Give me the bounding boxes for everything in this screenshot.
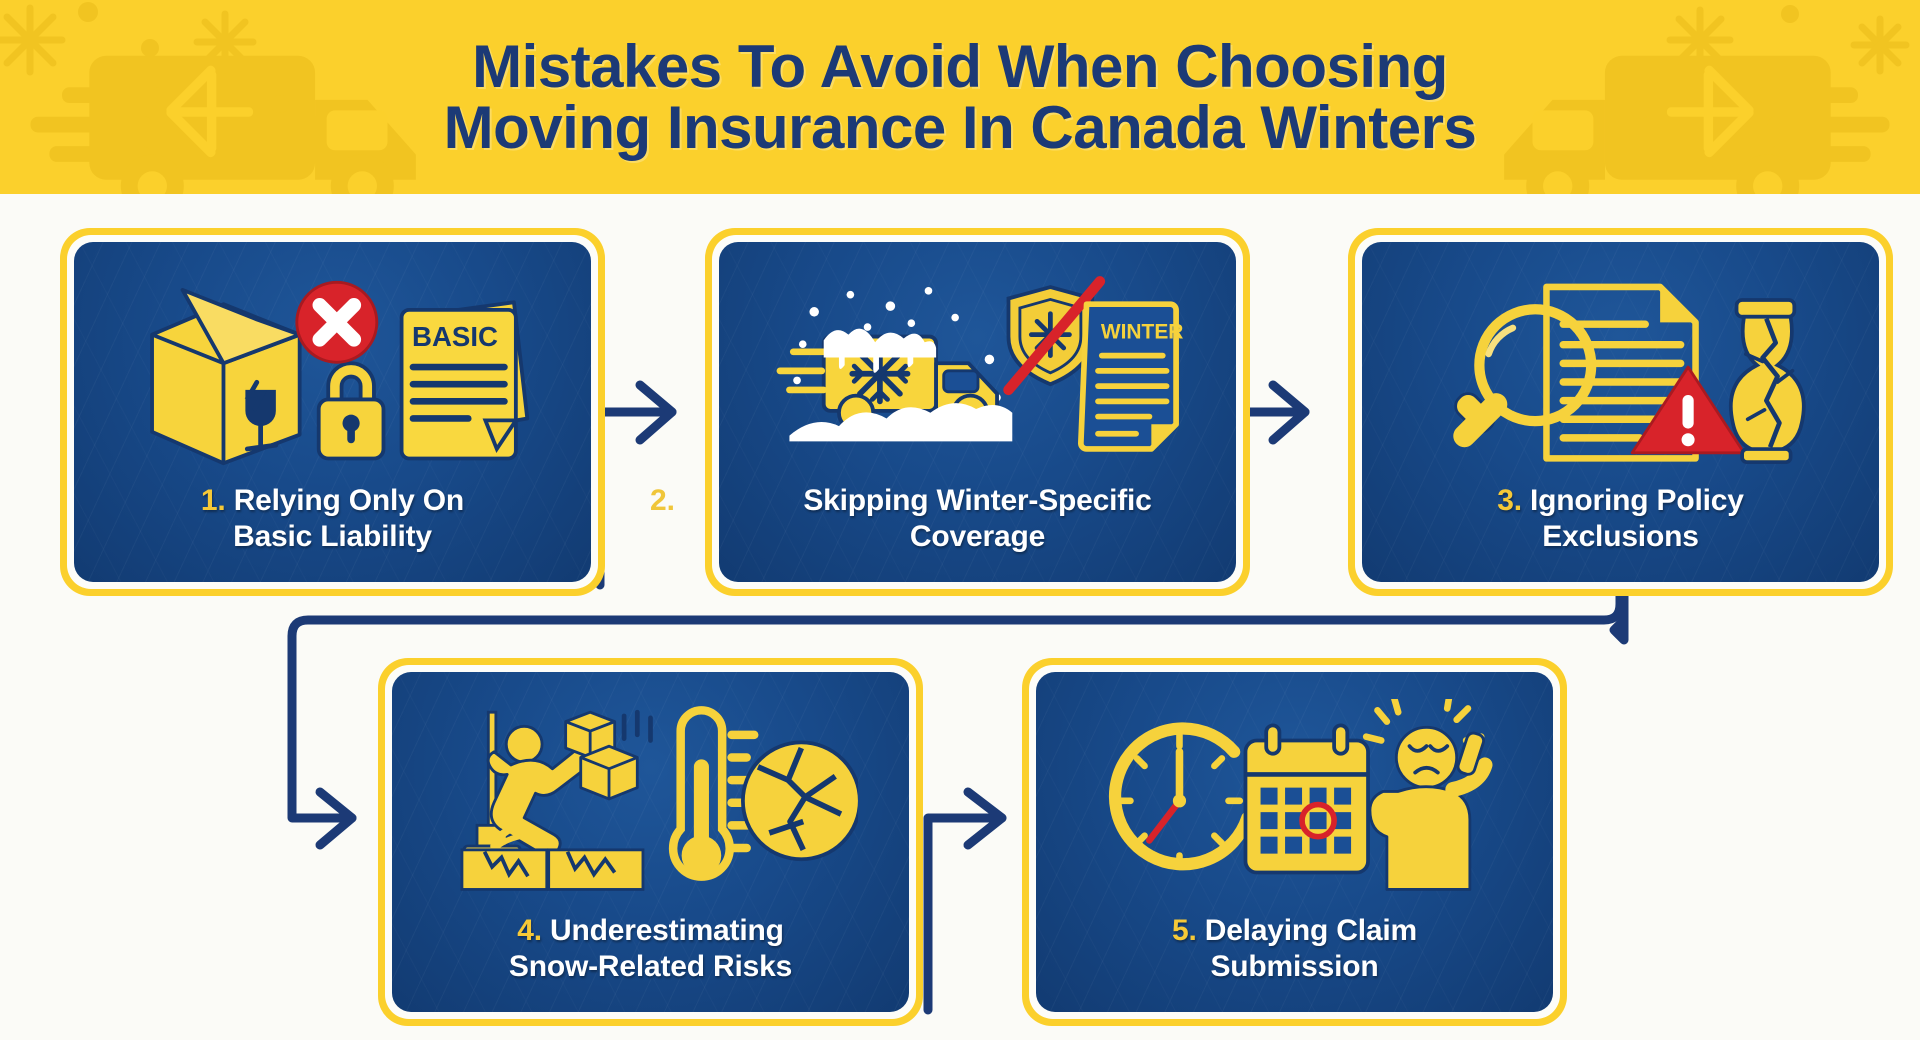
card-5-number: 5. (1172, 914, 1205, 947)
card-5-frame: 5. Delaying Claim Submission (1029, 665, 1560, 1019)
card-4-body: 4. Underestimating Snow-Related Risks (392, 672, 909, 1012)
card-1[interactable]: BASIC 1. Relying Only On (60, 228, 605, 596)
card-5-label: 5. Delaying Claim Submission (1154, 913, 1435, 1012)
card-2-label: Skipping Winter-Specific Coverage (785, 483, 1169, 582)
snow-truck-icon (779, 329, 1011, 442)
card-4[interactable]: 4. Underestimating Snow-Related Risks (378, 658, 923, 1026)
card-2-frame: WINTER (712, 235, 1243, 589)
card-2-art: WINTER (719, 242, 1236, 483)
card-2-body: WINTER (719, 242, 1236, 582)
clock-icon (1115, 729, 1247, 867)
card-4-frame: 4. Underestimating Snow-Related Risks (385, 665, 916, 1019)
title-line-2: Moving Insurance In Canada Winters (444, 97, 1477, 158)
card-4-label: 4. Underestimating Snow-Related Risks (491, 913, 810, 1012)
card-3-body: 3. Ignoring Policy Exclusions (1362, 242, 1879, 582)
card-3-art (1362, 242, 1879, 483)
card-1-label-line-1: Relying Only On (234, 484, 464, 517)
card-5[interactable]: 5. Delaying Claim Submission (1022, 658, 1567, 1026)
card-1-number: 1. (201, 484, 234, 517)
arrow-card4-to-card5 (928, 792, 1002, 1010)
card-1-art-label: BASIC (412, 322, 498, 353)
card-2[interactable]: WINTER (705, 228, 1250, 596)
card-2-number: 2. (650, 484, 675, 518)
header-banner: Mistakes To Avoid When Choosing Moving I… (0, 0, 1920, 194)
lock-icon (318, 364, 383, 459)
card-5-label-line-1: Delaying Claim (1205, 914, 1417, 947)
basic-document-icon: BASIC (401, 303, 527, 459)
card-3-label-line-1: Ignoring Policy (1530, 484, 1744, 517)
winter-policy-document-icon: WINTER (1080, 305, 1183, 450)
card-1-art: BASIC (74, 242, 591, 483)
cracked-ice-icon (743, 743, 858, 860)
card-1-label-line-2: Basic Liability (233, 520, 432, 553)
card-5-art (1036, 672, 1553, 913)
card-3-number: 3. (1497, 484, 1530, 517)
card-3-label: 3. Ignoring Policy Exclusions (1479, 483, 1761, 582)
card-2-label-line-2: Coverage (910, 520, 1045, 553)
card-4-label-line-2: Snow-Related Risks (509, 950, 792, 983)
card-4-art (392, 672, 909, 913)
title-line-1: Mistakes To Avoid When Choosing (472, 36, 1448, 97)
card-4-number: 4. (517, 914, 550, 947)
card-1-frame: BASIC 1. Relying Only On (67, 235, 598, 589)
broken-vase-icon (1730, 300, 1803, 462)
broken-floor-icon (462, 850, 643, 890)
card-1-label: 1. Relying Only On Basic Liability (183, 483, 482, 582)
box-icon (152, 290, 300, 463)
card-5-body: 5. Delaying Claim Submission (1036, 672, 1553, 1012)
calendar-icon (1245, 726, 1368, 873)
stressed-person-phone-icon (1366, 699, 1485, 889)
page-title: Mistakes To Avoid When Choosing Moving I… (0, 0, 1920, 194)
card-2-art-label: WINTER (1100, 321, 1183, 344)
card-4-label-line-1: Underestimating (550, 914, 784, 947)
card-3[interactable]: 3. Ignoring Policy Exclusions (1348, 228, 1893, 596)
infographic-root: Mistakes To Avoid When Choosing Moving I… (0, 0, 1920, 1040)
card-2-label-line-1: Skipping Winter-Specific (803, 484, 1151, 517)
card-1-body: BASIC 1. Relying Only On (74, 242, 591, 582)
red-x-icon (296, 283, 376, 363)
card-3-frame: 3. Ignoring Policy Exclusions (1355, 235, 1886, 589)
card-3-label-line-2: Exclusions (1542, 520, 1698, 553)
card-5-label-line-2: Submission (1210, 950, 1378, 983)
